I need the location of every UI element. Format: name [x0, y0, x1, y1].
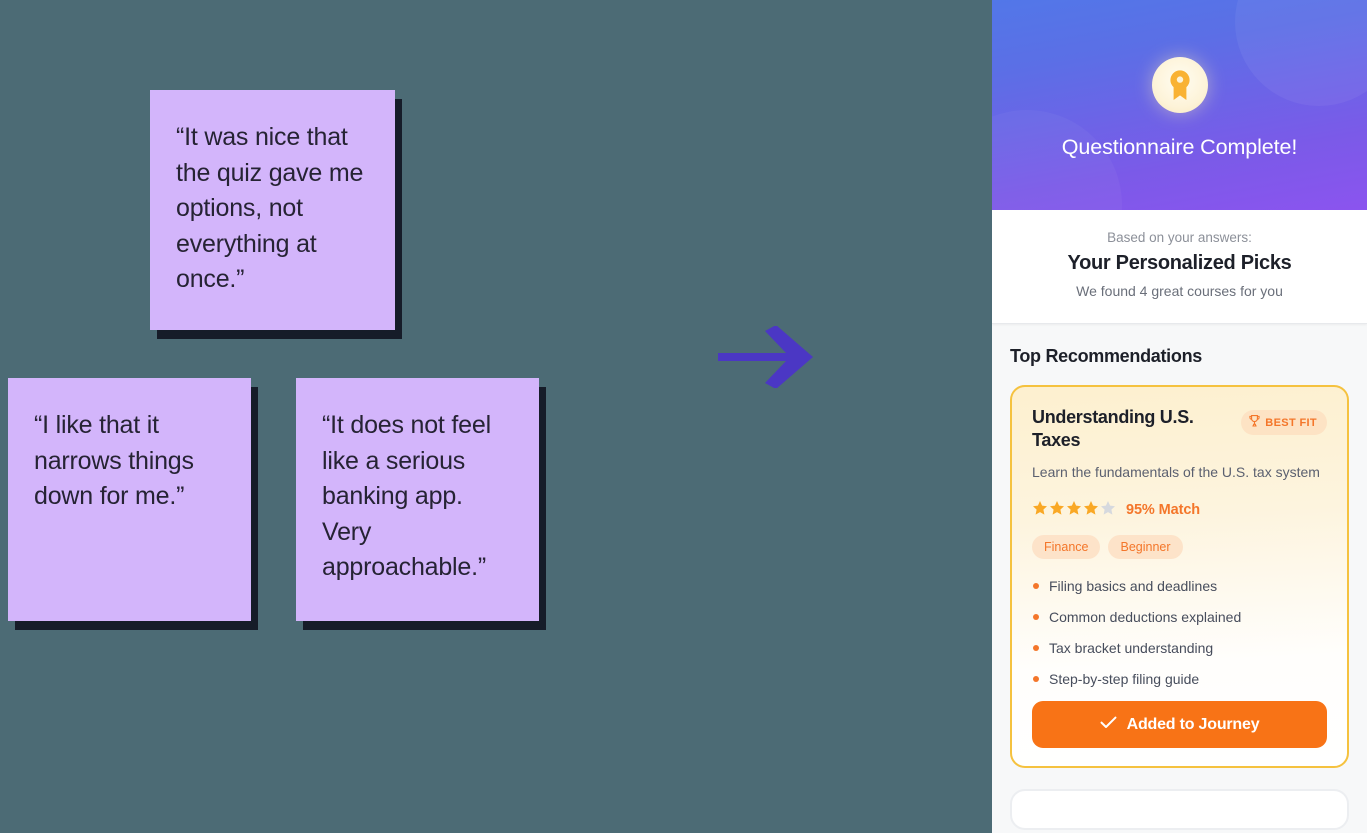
sticky-note[interactable]: “It does not feel like a serious banking…	[296, 378, 539, 621]
star-rating	[1032, 500, 1116, 521]
trophy-icon	[1249, 415, 1260, 430]
star-icon	[1100, 500, 1116, 521]
star-icon	[1032, 500, 1048, 521]
rating-row: 95% Match	[1032, 500, 1327, 521]
star-icon	[1066, 500, 1082, 521]
recommendation-card[interactable]	[1010, 789, 1349, 830]
list-item: Common deductions explained	[1032, 608, 1327, 626]
sticky-note[interactable]: “It was nice that the quiz gave me optio…	[150, 90, 395, 330]
status-badge-label: BEST FIT	[1265, 417, 1317, 429]
subheader-eyebrow: Based on your answers:	[1008, 230, 1351, 245]
whiteboard-canvas: “It was nice that the quiz gave me optio…	[0, 0, 992, 833]
recommendations-panel: Questionnaire Complete! Based on your an…	[992, 0, 1367, 833]
tag-pill: Beginner	[1108, 535, 1182, 559]
hero-title: Questionnaire Complete!	[1062, 135, 1298, 160]
recommendation-card[interactable]: Understanding U.S. Taxes BEST FIT Learn …	[1010, 385, 1349, 768]
arrow-right-icon	[716, 326, 816, 388]
section-title: Top Recommendations	[1010, 346, 1349, 367]
list-item: Tax bracket understanding	[1032, 639, 1327, 657]
tag-list: FinanceBeginner	[1032, 535, 1327, 559]
course-highlights-list: Filing basics and deadlinesCommon deduct…	[1032, 577, 1327, 689]
tag-pill: Finance	[1032, 535, 1100, 559]
subheader-block: Based on your answers: Your Personalized…	[992, 210, 1367, 324]
star-icon	[1083, 500, 1099, 521]
match-percent-label: 95% Match	[1126, 502, 1200, 518]
check-icon	[1100, 716, 1117, 734]
course-title: Understanding U.S. Taxes	[1032, 406, 1231, 453]
recommendations-body: Top Recommendations Understanding U.S. T…	[992, 324, 1367, 830]
award-ribbon-icon	[1152, 57, 1208, 113]
course-description: Learn the fundamentals of the U.S. tax s…	[1032, 462, 1327, 483]
list-item: Filing basics and deadlines	[1032, 577, 1327, 595]
list-item: Step-by-step filing guide	[1032, 670, 1327, 688]
star-icon	[1049, 500, 1065, 521]
added-to-journey-button[interactable]: Added to Journey	[1032, 701, 1327, 748]
hero-banner: Questionnaire Complete!	[992, 0, 1367, 210]
added-to-journey-label: Added to Journey	[1127, 716, 1260, 734]
status-badge: BEST FIT	[1241, 410, 1327, 435]
sticky-note[interactable]: “I like that it narrows things down for …	[8, 378, 251, 621]
subheader-title: Your Personalized Picks	[1008, 252, 1351, 275]
subheader-subtitle: We found 4 great courses for you	[1008, 283, 1351, 299]
